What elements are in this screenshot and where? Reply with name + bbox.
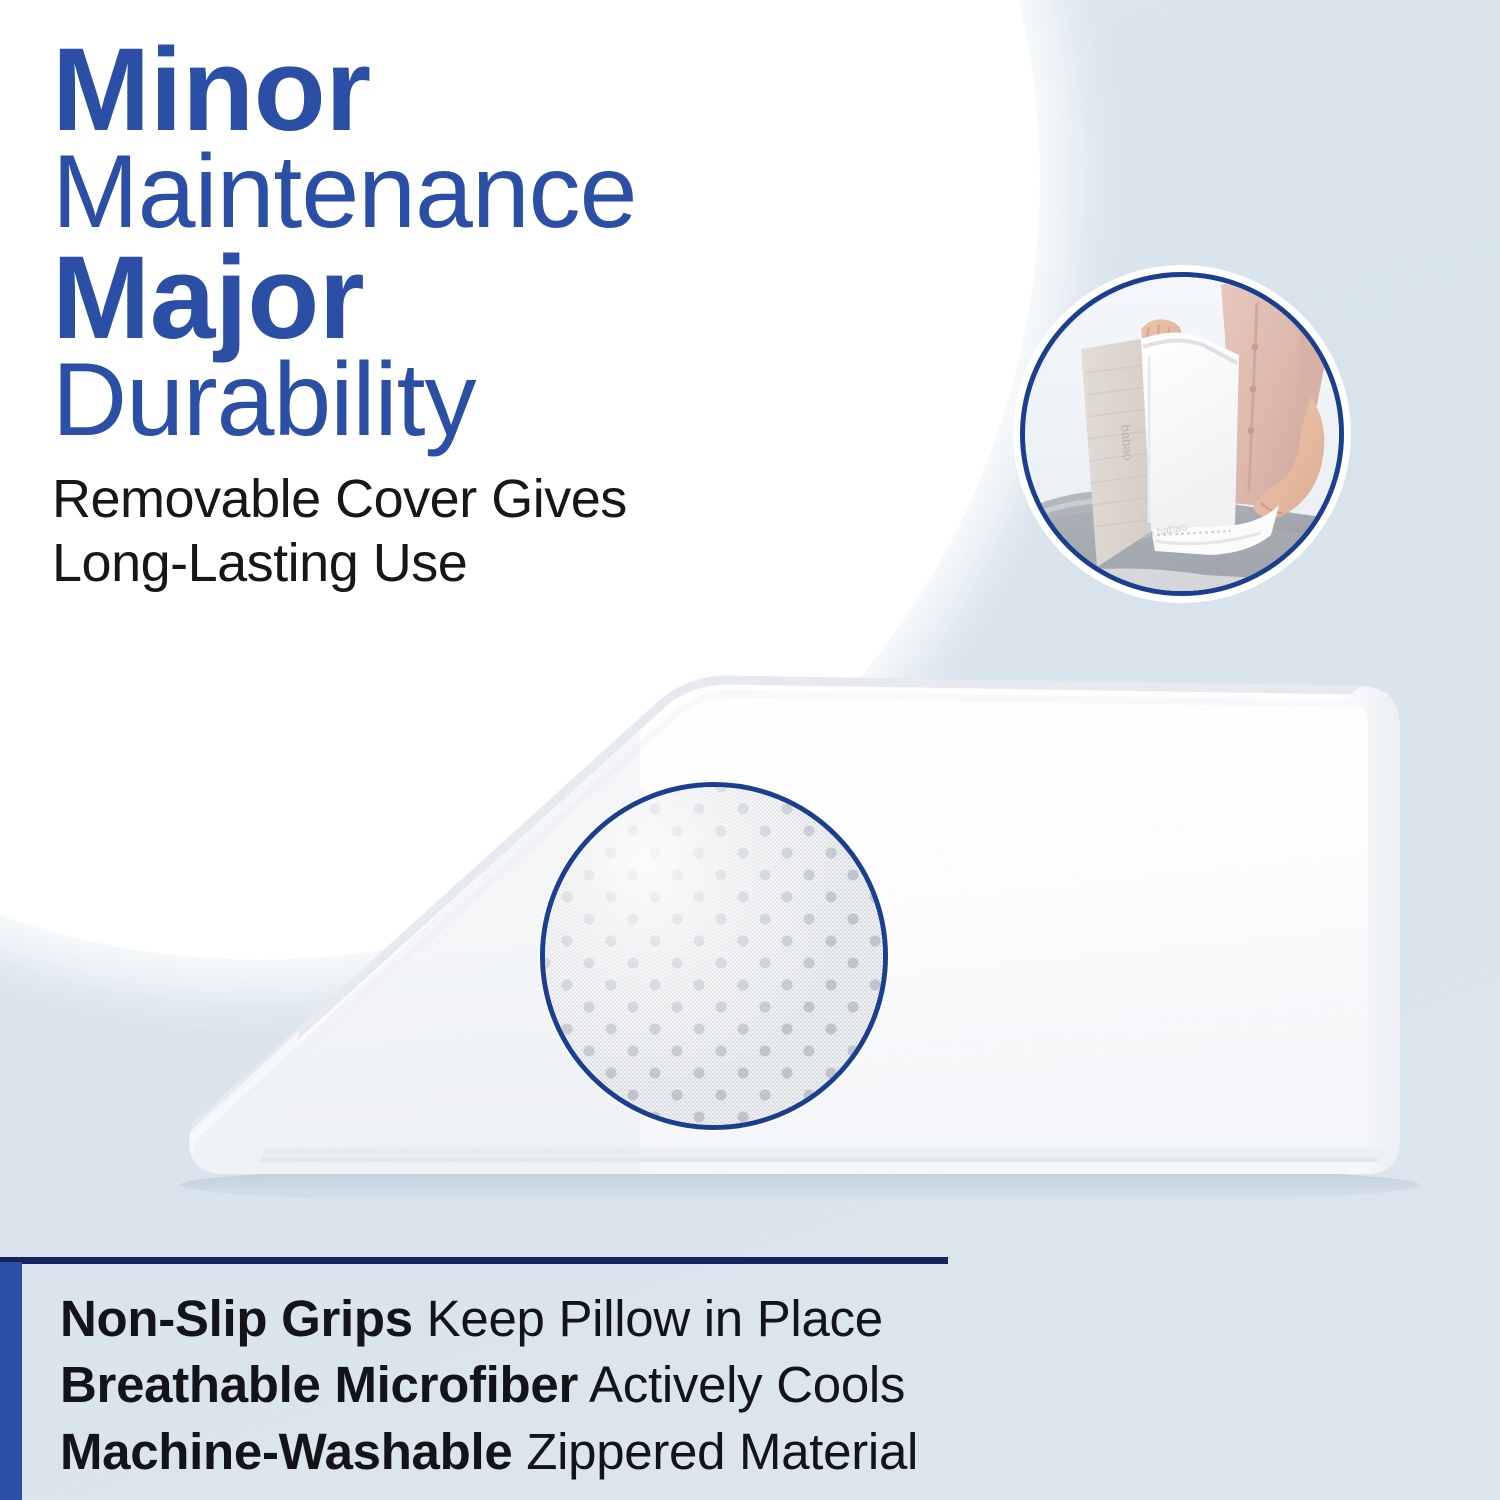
inset-photo-cover-removal: babao zen babao xyxy=(1025,277,1344,596)
feature-item-1: Non-Slip Grips Keep Pillow in Place xyxy=(60,1286,1460,1352)
lifestyle-inset-circle: babao zen babao xyxy=(1020,272,1344,596)
headline-line-3: Major xyxy=(52,244,872,353)
subheadline-block: Removable Cover Gives Long-Lasting Use xyxy=(52,468,872,595)
subheadline-line-2: Long-Lasting Use xyxy=(52,533,467,593)
fabric-detail-zoom-circle xyxy=(540,782,888,1130)
subheadline-line-1: Removable Cover Gives xyxy=(52,469,627,529)
left-accent-bar xyxy=(0,1262,22,1500)
bottom-divider-line xyxy=(0,1257,948,1264)
feature-3-bold: Machine-Washable xyxy=(60,1423,512,1480)
detail-sheen-overlay xyxy=(545,787,883,1125)
svg-text:babao: babao xyxy=(1118,424,1136,461)
feature-1-bold: Non-Slip Grips xyxy=(60,1290,413,1347)
feature-1-rest: Keep Pillow in Place xyxy=(413,1290,883,1347)
inset-ring-border: babao zen babao xyxy=(1020,272,1344,596)
headline-block: Minor Maintenance Major Durability Remov… xyxy=(52,36,872,596)
feature-3-rest: Zippered Material xyxy=(512,1423,918,1480)
feature-2-rest: Actively Cools xyxy=(578,1356,905,1413)
feature-2-bold: Breathable Microfiber xyxy=(60,1356,578,1413)
product-marketing-image: Minor Maintenance Major Durability Remov… xyxy=(0,0,1500,1500)
feature-item-2: Breathable Microfiber Actively Cools xyxy=(60,1352,1460,1418)
headline-line-2: Maintenance xyxy=(52,145,872,241)
headline-line-1: Minor xyxy=(52,36,872,145)
feature-list: Non-Slip Grips Keep Pillow in Place Brea… xyxy=(60,1286,1460,1485)
feature-item-3: Machine-Washable Zippered Material xyxy=(60,1419,1460,1485)
headline-line-4: Durability xyxy=(52,353,872,449)
